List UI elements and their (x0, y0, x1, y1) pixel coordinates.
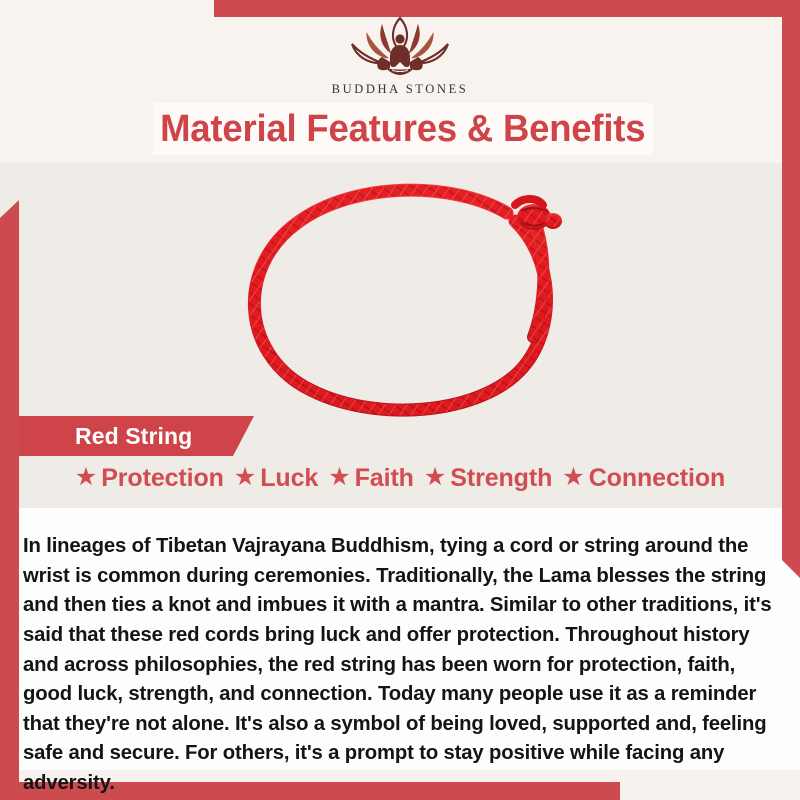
star-icon: ★ (424, 465, 446, 490)
feature-item-luck: ★ Luck (234, 464, 318, 493)
star-icon: ★ (75, 465, 97, 490)
feature-item-connection: ★ Connection (562, 464, 725, 493)
red-string-ribbon: Red String (19, 416, 254, 456)
star-icon: ★ (562, 465, 584, 490)
feature-item-protection: ★ Protection (75, 464, 224, 493)
feature-list: ★ Protection ★ Luck ★ Faith ★ Strength ★… (22, 464, 778, 493)
product-image (185, 165, 615, 435)
feature-label: Connection (589, 464, 726, 493)
feature-label: Protection (101, 464, 224, 493)
page-title: Material Features & Benefits (160, 108, 645, 151)
ribbon-label: Red String (75, 423, 192, 450)
decorative-left-red-bar (0, 200, 19, 800)
description-paragraph: In lineages of Tibetan Vajrayana Buddhis… (23, 532, 773, 798)
feature-label: Strength (450, 464, 552, 493)
brand-logo: BUDDHA STONES (0, 12, 800, 97)
red-string-bracelet-illustration (185, 165, 615, 435)
title-plate: Material Features & Benefits (153, 103, 653, 155)
feature-item-strength: ★ Strength (424, 464, 552, 493)
feature-label: Luck (260, 464, 318, 493)
infographic-poster: BUDDHA STONES Material Features & Benefi… (0, 0, 800, 800)
feature-item-faith: ★ Faith (328, 464, 414, 493)
brand-name: BUDDHA STONES (0, 82, 800, 97)
lotus-meditation-icon (334, 12, 466, 80)
star-icon: ★ (328, 465, 350, 490)
star-icon: ★ (234, 465, 256, 490)
feature-label: Faith (355, 464, 414, 493)
